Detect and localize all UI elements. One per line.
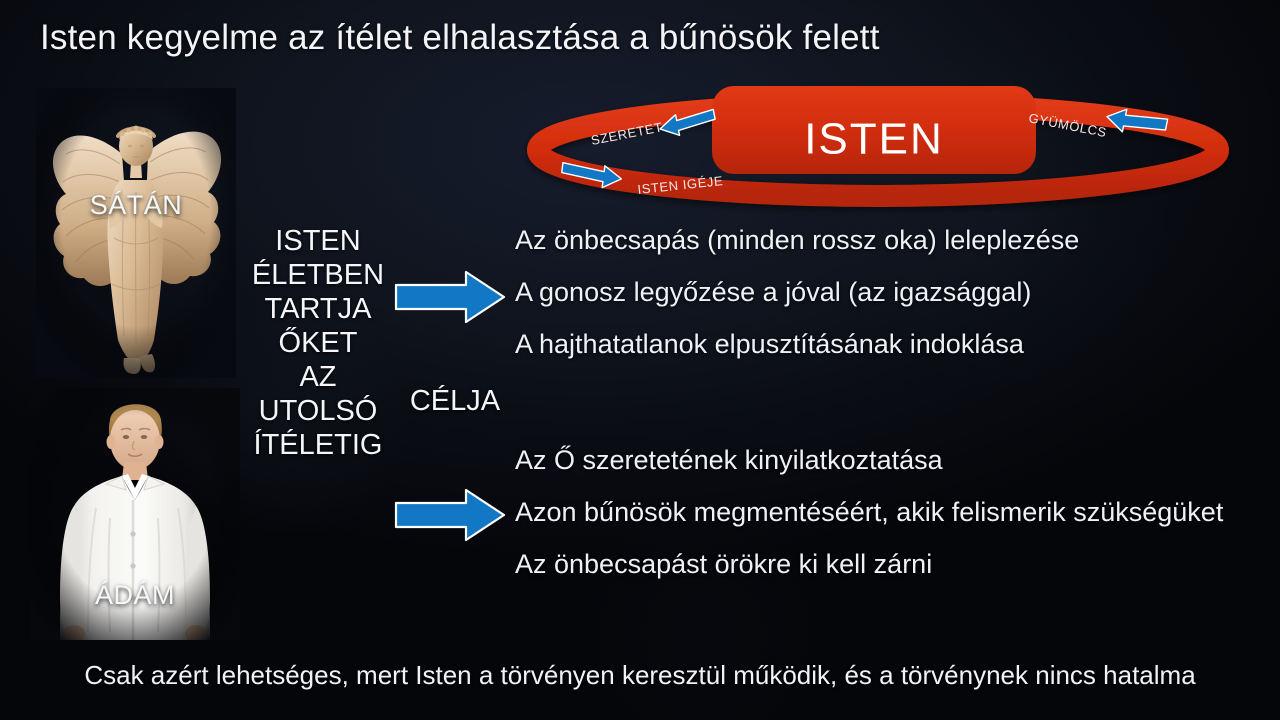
presentation-slide: Isten kegyelme az ítélet elhalasztása a … [0,0,1280,720]
footer-caption: Csak azért lehetséges, mert Isten a törv… [0,660,1280,691]
page-title: Isten kegyelme az ítélet elhalasztása a … [40,18,880,58]
winged-angel-statue-icon [36,88,236,378]
isten-box: ISTEN [712,86,1036,174]
text-group-bottom: Az Ő szeretetének kinyilatkoztatása Azon… [515,434,1275,590]
text-line: Az önbecsapás (minden rossz oka) leleple… [515,214,1275,266]
adam-figure: ÁDÁM [30,388,240,640]
text-line: A hajthatatlanok elpusztításának indoklá… [515,318,1275,370]
block-arrow-right-top-icon [394,269,506,325]
text-line: Az Ő szeretetének kinyilatkoztatása [515,434,1275,486]
center-line: ÉLETBEN [248,258,388,292]
text-line: Azon bűnösök megmentéséért, akik felisme… [515,486,1275,538]
satan-figure: SÁTÁN [36,88,236,378]
center-line: ŐKET [248,326,388,360]
man-photo-icon [30,388,240,640]
block-arrow-right-bottom-icon [394,487,506,543]
center-line: ISTEN [248,224,388,258]
text-line: Az önbecsapást örökre ki kell zárni [515,538,1275,590]
text-line: A gonosz legyőzése a jóval (az igazságga… [515,266,1275,318]
isten-box-label: ISTEN [804,115,944,164]
center-line: ÍTÉLETIG [248,428,388,462]
center-column: ISTEN ÉLETBEN TARTJA ŐKET AZ UTOLSÓ ÍTÉL… [248,224,388,462]
center-line: AZ [248,360,388,394]
center-line: UTOLSÓ [248,394,388,428]
center-line: TARTJA [248,292,388,326]
text-group-top: Az önbecsapás (minden rossz oka) leleple… [515,214,1275,370]
cycle-diagram: ISTEN SZERETET GYÜMÖLCS ISTEN IGÉJE [530,82,1230,204]
purpose-label: CÉLJA [400,385,510,418]
